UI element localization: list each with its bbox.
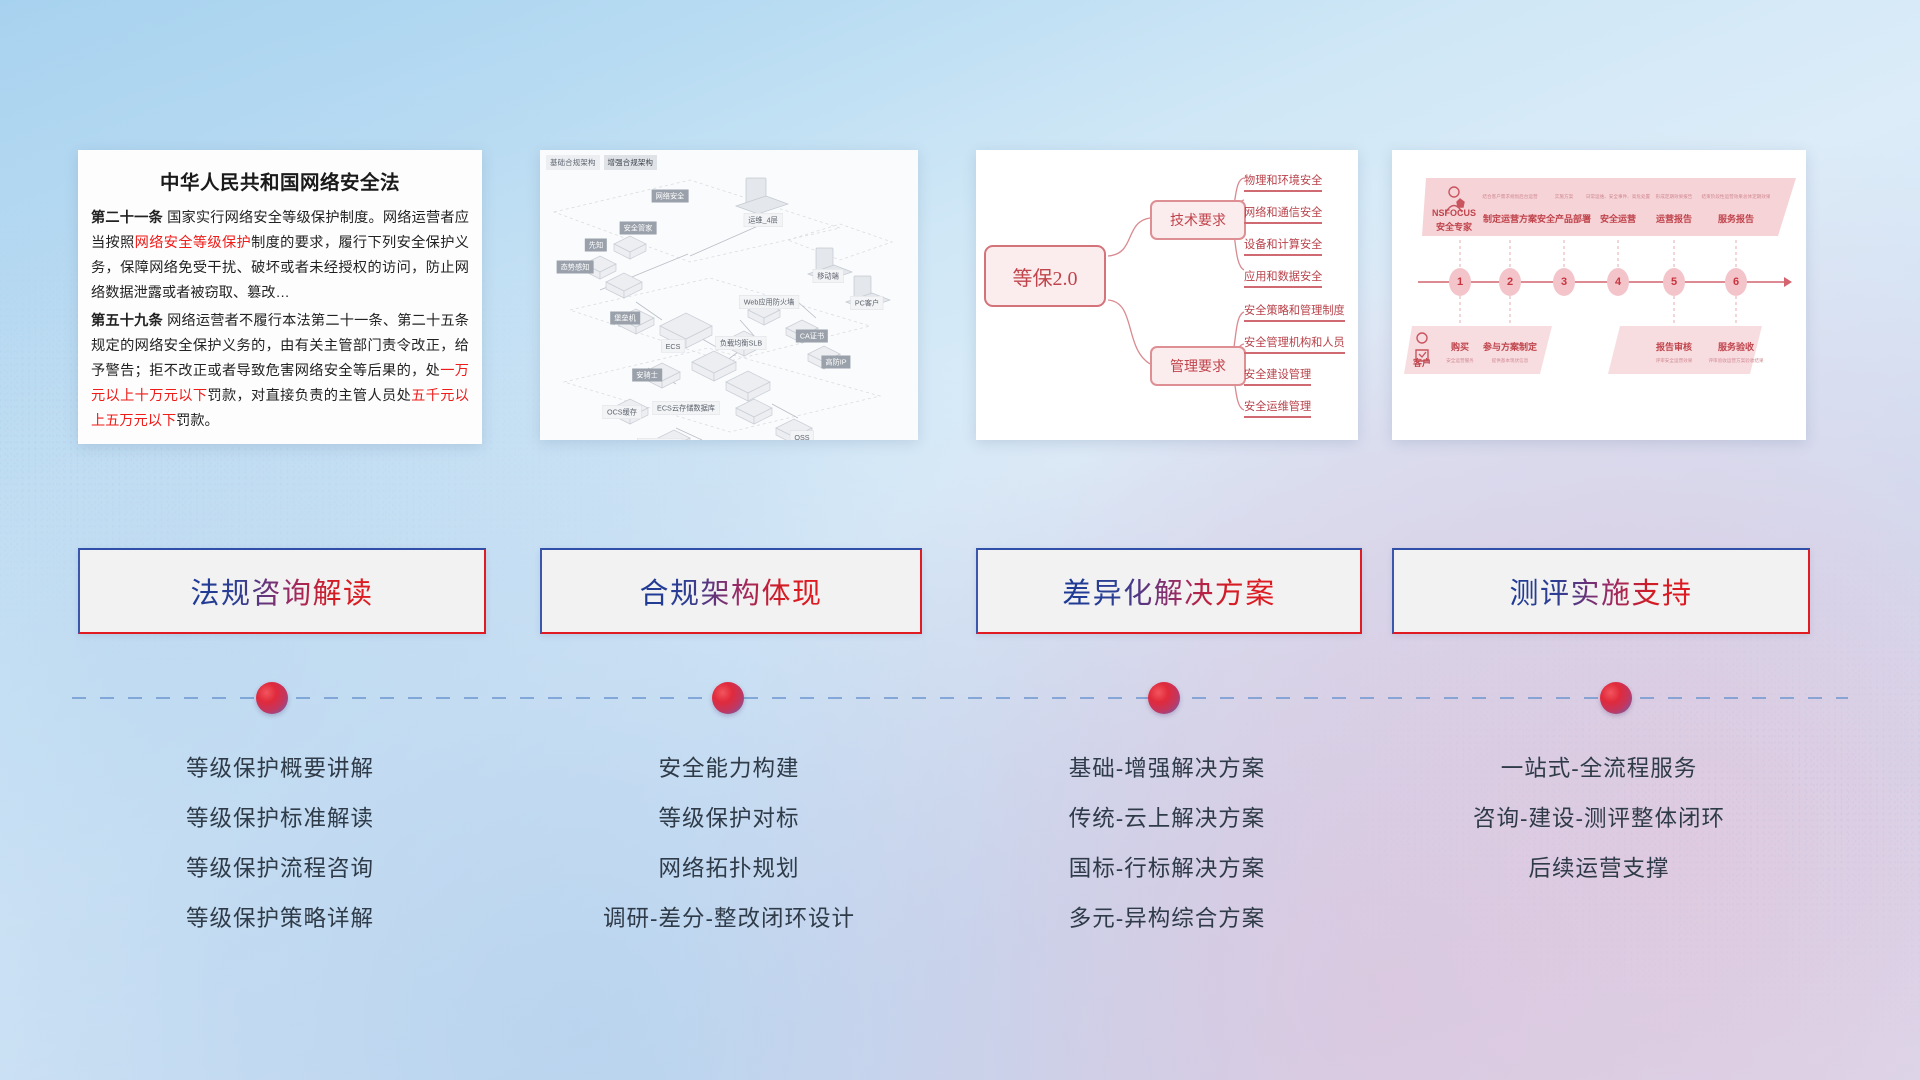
list-item: 后续运营支撑 xyxy=(1392,844,1806,894)
timeline-bottom-step-title: 参与方案制定 xyxy=(1483,340,1537,353)
arch-node-label: ECS云存储数据库 xyxy=(653,402,719,415)
arch-node-label: RDS数据库 xyxy=(638,439,683,441)
section-title-box-1[interactable]: 法规咨询解读 xyxy=(78,548,486,634)
law-card-body: 第二十一条 国家实行网络安全等级保护制度。网络运营者应当按照网络安全等级保护制度… xyxy=(78,206,482,434)
timeline-step-number: 5 xyxy=(1663,268,1685,296)
section-title-2: 合规架构体现 xyxy=(639,570,822,612)
arch-node-label: 先知 xyxy=(585,239,607,252)
arch-node-label: OCS缓存 xyxy=(603,406,641,419)
timeline-top-step-sub: 结合客户需求规划后台运营 xyxy=(1482,194,1537,200)
cards-row: 中华人民共和国网络安全法 第二十一条 国家实行网络安全等级保护制度。网络运营者应… xyxy=(0,150,1920,445)
timeline-service-card: NSFOCUS安全专家客户结合客户需求规划后台运营制定运营方案实施方案安全产品部… xyxy=(1392,150,1806,440)
arch-node-label: CA证书 xyxy=(796,330,828,343)
timeline-dot-4 xyxy=(1600,682,1632,714)
law-paragraph-1: 第二十一条 国家实行网络安全等级保护制度。网络运营者应当按照网络安全等级保护制度… xyxy=(91,206,469,306)
arch-node-label: 态势感知 xyxy=(557,261,594,274)
list-item: 等级保护标准解读 xyxy=(78,794,482,844)
architecture-connectors xyxy=(540,150,918,440)
timeline-step-number: 1 xyxy=(1449,268,1471,296)
timeline-bottom-step-sub: 提供基本现状信息 xyxy=(1492,358,1529,364)
arch-node-label: PC客户 xyxy=(851,297,883,310)
mindmap-leaf: 设备和计算安全 xyxy=(1244,236,1322,256)
list-item: 咨询-建设-测评整体闭环 xyxy=(1392,794,1806,844)
timeline-top-step-sub: 实施方案 xyxy=(1555,194,1573,200)
law-text-card: 中华人民共和国网络安全法 第二十一条 国家实行网络安全等级保护制度。网络运营者应… xyxy=(78,150,482,444)
timeline-rail xyxy=(72,697,1848,699)
timeline-dot-3 xyxy=(1148,682,1180,714)
section-title-4: 测评实施支持 xyxy=(1509,570,1692,612)
list-item: 调研-差分-整改闭环设计 xyxy=(540,894,918,944)
law-highlight-text: 网络安全等级保护 xyxy=(135,235,251,251)
mindmap-branch-2: 管理要求 xyxy=(1150,346,1246,386)
timeline-top-step-title: 制定运营方案 xyxy=(1483,212,1537,225)
item-list-2: 安全能力构建等级保护对标网络拓扑规划调研-差分-整改闭环设计 xyxy=(540,744,918,944)
mindmap-leaf: 应用和数据安全 xyxy=(1244,268,1322,288)
arch-node-label: 移动端 xyxy=(813,270,843,283)
arch-node-label: 高防IP xyxy=(821,356,850,369)
list-item: 等级保护对标 xyxy=(540,794,918,844)
mindmap-leaf: 安全建设管理 xyxy=(1244,366,1311,386)
list-item: 基础-增强解决方案 xyxy=(976,744,1358,794)
section-title-3: 差异化解决方案 xyxy=(1062,570,1276,612)
mindmap-leaf: 安全管理机构和人员 xyxy=(1244,334,1345,354)
architecture-diagram-card: 基础合规架构 增强合规架构 xyxy=(540,150,918,440)
timeline-step-number: 6 xyxy=(1725,268,1747,296)
arch-node-label: Web应用防火墙 xyxy=(740,296,799,309)
timeline-top-step-title: 安全产品部署 xyxy=(1537,212,1591,225)
timeline-top-actor-subtitle: 安全专家 xyxy=(1436,220,1472,233)
timeline-bottom-step-title: 服务验收 xyxy=(1718,340,1754,353)
section-title-box-2[interactable]: 合规架构体现 xyxy=(540,548,922,634)
item-list-1: 等级保护概要讲解等级保护标准解读等级保护流程咨询等级保护策略详解 xyxy=(78,744,482,944)
arch-node-label: 负载均衡SLB xyxy=(716,337,766,350)
timeline-top-step-sub: 日常运维、安全事件、高危处置 xyxy=(1586,194,1650,200)
list-item: 等级保护流程咨询 xyxy=(78,844,482,894)
mindmap-leaf: 网络和通信安全 xyxy=(1244,204,1322,224)
timeline-top-actor-title: NSFOCUS xyxy=(1432,208,1476,218)
mindmap-branch-1: 技术要求 xyxy=(1150,200,1246,240)
list-item: 一站式-全流程服务 xyxy=(1392,744,1806,794)
law-clause-lead: 第五十九条 xyxy=(91,313,163,329)
arch-node-label: OSS xyxy=(790,431,813,440)
law-text: 罚款。 xyxy=(176,413,219,429)
section-items-4: 一站式-全流程服务咨询-建设-测评整体闭环后续运营支撑 xyxy=(1392,744,1806,894)
list-item: 等级保护概要讲解 xyxy=(78,744,482,794)
timeline-bottom-step-title: 报告审核 xyxy=(1656,340,1692,353)
section-title-box-3[interactable]: 差异化解决方案 xyxy=(976,548,1362,634)
mindmap-leaf: 物理和环境安全 xyxy=(1244,172,1322,192)
arch-node-label: 运维_4层 xyxy=(744,214,782,227)
mindmap-leaf: 安全策略和管理制度 xyxy=(1244,302,1345,322)
timeline-top-step-title: 运营报告 xyxy=(1656,212,1692,225)
timeline-dot-2 xyxy=(712,682,744,714)
section-items-2: 安全能力构建等级保护对标网络拓扑规划调研-差分-整改闭环设计 xyxy=(540,744,918,944)
section-title-1: 法规咨询解读 xyxy=(190,570,373,612)
item-list-3: 基础-增强解决方案传统-云上解决方案国标-行标解决方案多元-异构综合方案 xyxy=(976,744,1358,944)
timeline-bottom-step-title: 购买 xyxy=(1451,340,1469,353)
law-paragraph-2: 第五十九条 网络运营者不履行本法第二十一条、第二十五条规定的网络安全保护义务的，… xyxy=(91,309,469,434)
timeline-bottom-step-sub: 评审验收运营方案验收结果 xyxy=(1708,358,1763,364)
timeline-step-number: 2 xyxy=(1499,268,1521,296)
mindmap-card: 等保2.0 技术要求物理和环境安全网络和通信安全设备和计算安全应用和数据安全管理… xyxy=(976,150,1358,440)
list-item: 安全能力构建 xyxy=(540,744,918,794)
mindmap-root-node: 等保2.0 xyxy=(984,245,1106,307)
iso-nodes xyxy=(584,178,890,440)
item-list-4: 一站式-全流程服务咨询-建设-测评整体闭环后续运营支撑 xyxy=(1392,744,1806,894)
architecture-canvas: 基础合规架构 增强合规架构 xyxy=(540,150,918,440)
list-item: 传统-云上解决方案 xyxy=(976,794,1358,844)
timeline-step-number: 3 xyxy=(1553,268,1575,296)
section-items-1: 等级保护概要讲解等级保护标准解读等级保护流程咨询等级保护策略详解 xyxy=(78,744,482,944)
timeline-top-step-sub: 形成定期效果报告 xyxy=(1656,194,1693,200)
arch-node-label: 安全管家 xyxy=(620,222,657,235)
timeline-bottom-actor-title: 客户 xyxy=(1413,356,1431,369)
mindmap-leaf: 安全运维管理 xyxy=(1244,398,1311,418)
arch-node-label: ECS xyxy=(662,340,685,352)
mindmap-canvas: 等保2.0 技术要求物理和环境安全网络和通信安全设备和计算安全应用和数据安全管理… xyxy=(976,150,1358,440)
law-clause-lead: 第二十一条 xyxy=(91,210,163,226)
timeline-top-step-title: 安全运营 xyxy=(1600,212,1636,225)
timeline-top-step-title: 服务报告 xyxy=(1718,212,1754,225)
arch-node-label: 堡垒机 xyxy=(610,312,640,325)
section-title-box-4[interactable]: 测评实施支持 xyxy=(1392,548,1810,634)
arch-node-label: 安骑士 xyxy=(632,369,662,382)
list-item: 等级保护策略详解 xyxy=(78,894,482,944)
timeline-top-step-sub: 结束阶段性运营效果总体定期效果 xyxy=(1702,194,1771,200)
list-item: 多元-异构综合方案 xyxy=(976,894,1358,944)
arch-node-label: 网络安全 xyxy=(652,190,689,203)
list-item: 国标-行标解决方案 xyxy=(976,844,1358,894)
law-text: 罚款，对直接负责的主管人员处 xyxy=(207,388,411,404)
timeline-step-number: 4 xyxy=(1607,268,1629,296)
timeline-bottom-step-sub: 评审安全运营效果 xyxy=(1656,358,1693,364)
timeline-bottom-step-sub: 安全运营服务 xyxy=(1446,358,1474,364)
list-item: 网络拓扑规划 xyxy=(540,844,918,894)
timeline-canvas: NSFOCUS安全专家客户结合客户需求规划后台运营制定运营方案实施方案安全产品部… xyxy=(1392,150,1806,440)
timeline-dot-1 xyxy=(256,682,288,714)
law-card-title: 中华人民共和国网络安全法 xyxy=(78,166,482,195)
section-items-3: 基础-增强解决方案传统-云上解决方案国标-行标解决方案多元-异构综合方案 xyxy=(976,744,1358,944)
